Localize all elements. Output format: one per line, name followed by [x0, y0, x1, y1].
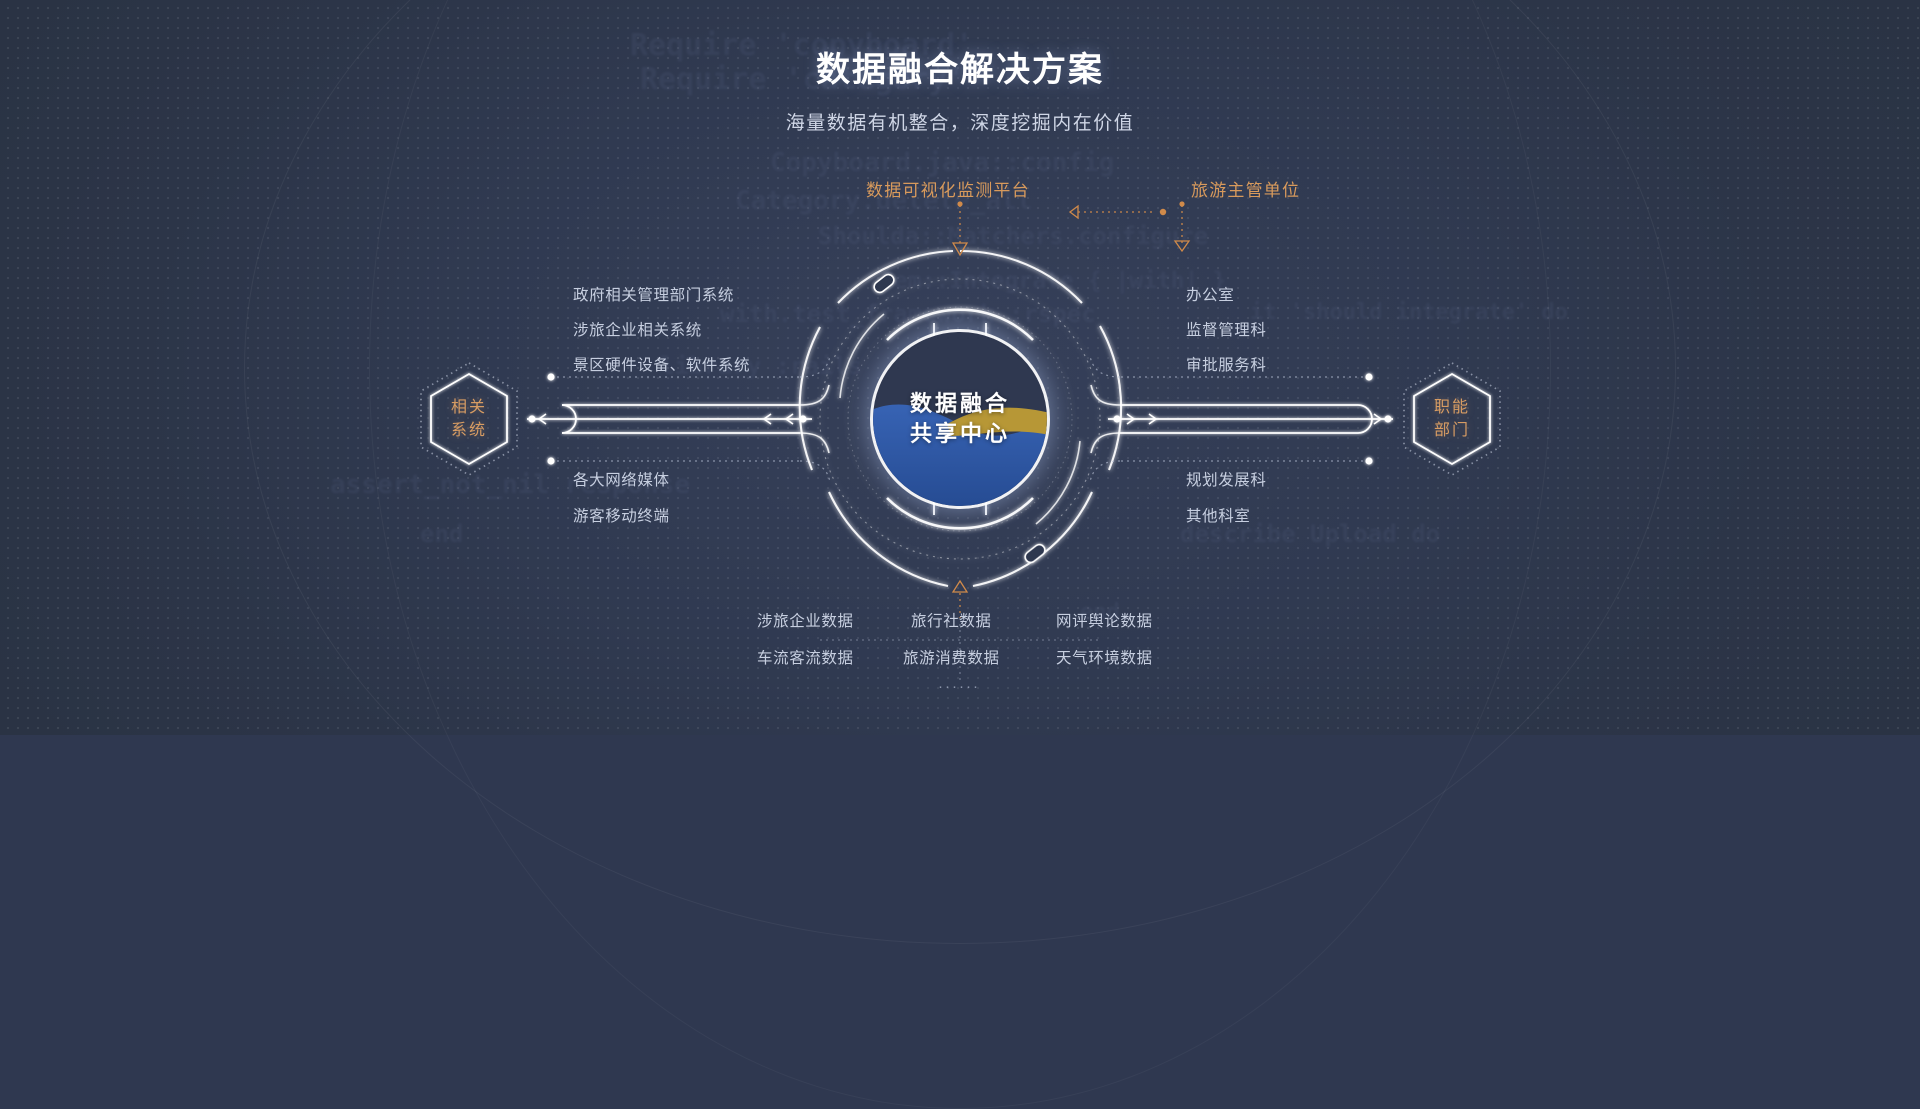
page-subtitle: 海量数据有机整合，深度挖掘内在价值: [0, 108, 1920, 135]
bottom-label-r1c0: 涉旅企业数据: [757, 609, 854, 631]
right-label-upper-1: 监督管理科: [1186, 318, 1267, 340]
core-label-line2: 共享中心: [910, 419, 1010, 449]
left-label-lower-0: 各大网络媒体: [573, 468, 670, 490]
right-label-upper-0: 办公室: [1186, 283, 1234, 305]
hexagon-left-related-systems[interactable]: 相关 系统: [417, 361, 521, 477]
bottom-label-r2c0: 车流客流数据: [757, 646, 854, 668]
hexagon-right-line2: 部门: [1434, 419, 1470, 442]
core-circle: 数据融合 共享中心: [873, 332, 1047, 506]
bottom-label-ellipsis: ······: [938, 678, 980, 695]
left-label-upper-0: 政府相关管理部门系统: [573, 283, 734, 305]
page-title: 数据融合解决方案: [0, 42, 1920, 91]
left-label-upper-2: 景区硬件设备、软件系统: [573, 353, 750, 375]
header: 数据融合解决方案 海量数据有机整合，深度挖掘内在价值: [0, 0, 1920, 135]
bottom-label-r2c1: 旅游消费数据: [903, 646, 1000, 668]
right-label-lower-0: 规划发展科: [1186, 468, 1267, 490]
hexagon-right-label: 职能 部门: [1400, 361, 1504, 477]
hexagon-right-line1: 职能: [1434, 396, 1470, 419]
bottom-label-r1c2: 网评舆论数据: [1056, 609, 1153, 631]
core-label-line1: 数据融合: [910, 389, 1010, 419]
hexagon-left-line1: 相关: [451, 396, 487, 419]
hexagon-right-functional-departments[interactable]: 职能 部门: [1400, 361, 1504, 477]
bottom-label-r1c1: 旅行社数据: [911, 609, 992, 631]
core-label: 数据融合 共享中心: [873, 332, 1047, 506]
node-data-visualization-platform[interactable]: 数据可视化监测平台: [866, 176, 1030, 201]
left-label-lower-1: 游客移动终端: [573, 504, 670, 526]
hexagon-left-line2: 系统: [451, 419, 487, 442]
bottom-label-r2c2: 天气环境数据: [1056, 646, 1153, 668]
node-tourism-authority[interactable]: 旅游主管单位: [1191, 176, 1300, 201]
left-label-upper-1: 涉旅企业相关系统: [573, 318, 702, 340]
right-label-lower-1: 其他科室: [1186, 504, 1250, 526]
right-label-upper-2: 审批服务科: [1186, 353, 1267, 375]
hexagon-left-label: 相关 系统: [417, 361, 521, 477]
